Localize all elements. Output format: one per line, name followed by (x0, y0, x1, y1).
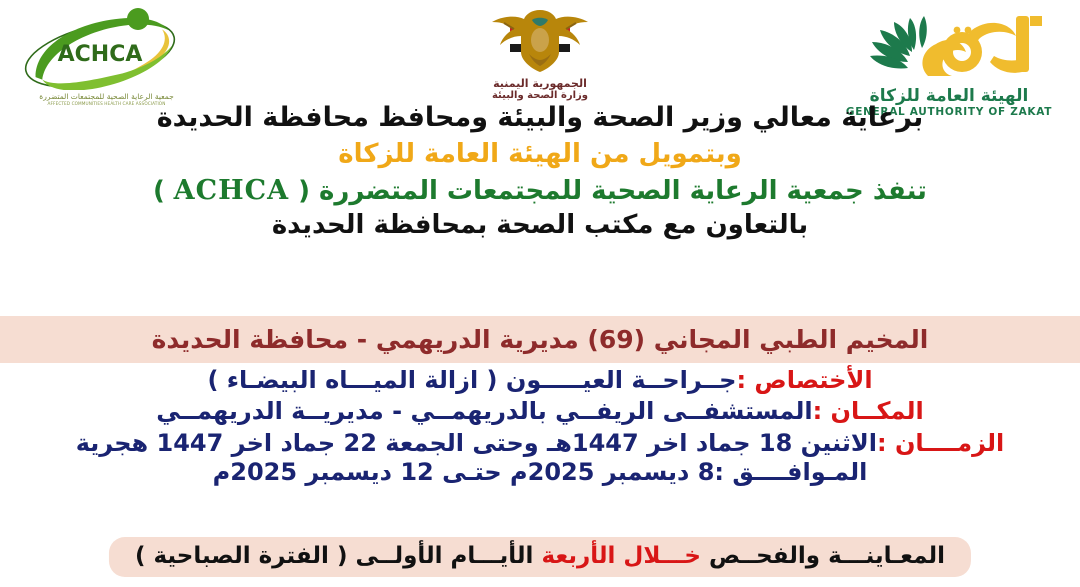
camp-title-text: المخيم الطبي المجاني (69) مديرية الدريهم… (152, 325, 929, 354)
ministry-name: وزارة الصحة والبيئة (455, 90, 625, 101)
ministry-emblem-block: الجمهورية اليمنية وزارة الصحة والبيئة (455, 2, 625, 118)
headline-partner: بالتعاون مع مكتب الصحة بمحافظة الحديدة (0, 212, 1080, 239)
gregorian-value: 8 ديسمبر 2025م حتـى 12 ديسمبر 2025م (213, 458, 715, 486)
time-value: الاثنين 18 جماد اخر 1447هـ وحتى الجمعة 2… (76, 429, 877, 457)
headline-block: برعاية معالي وزير الصحة والبيئة ومحافظ م… (0, 104, 1080, 239)
place-label: المكــان : (813, 397, 924, 425)
screening-note-box: المعـاينـــة والفحــص خـــلال الأربعة ال… (109, 537, 971, 577)
zakat-logo: الهيئة العامة للزكاة GENERAL AUTHORITY O… (844, 4, 1054, 118)
detail-row-place: المكــان :المستشفــى الريفــي بالدريهمــ… (0, 397, 1080, 425)
specialty-label: الأختصاص : (736, 366, 872, 394)
headline-implementer-acronym: ACHCA (174, 175, 289, 206)
poster-root: ACHCA جمعية الرعاية الصحية للمجتمعات الم… (0, 0, 1080, 587)
detail-row-gregorian: المـوافــــق :8 ديسمبر 2025م حتـى 12 ديس… (0, 458, 1080, 486)
header-logos: ACHCA جمعية الرعاية الصحية للمجتمعات الم… (0, 0, 1080, 118)
note-highlight: خـــلال الأربعة (541, 543, 701, 569)
svg-text:ACHCA: ACHCA (58, 42, 143, 67)
zakat-logo-mark (844, 4, 1054, 86)
gregorian-label: المـوافــــق : (714, 458, 867, 486)
details-block: الأختصاص :جــراحــة العيـــــون ( ازالة … (0, 366, 1080, 486)
place-value: المستشفــى الريفــي بالدريهمــي - مديريـ… (156, 397, 812, 425)
specialty-value: جــراحــة العيـــــون ( ازالة الميـــاه … (207, 366, 736, 394)
detail-row-specialty: الأختصاص :جــراحــة العيـــــون ( ازالة … (0, 366, 1080, 394)
headline-patronage: برعاية معالي وزير الصحة والبيئة ومحافظ م… (0, 104, 1080, 132)
palm-leaves-icon (870, 16, 927, 69)
ministry-country-name: الجمهورية اليمنية (455, 77, 625, 90)
camp-title-banner: المخيم الطبي المجاني (69) مديرية الدريهم… (0, 316, 1080, 363)
headline-funding: وبتمويل من الهيئة العامة للزكاة (0, 141, 1080, 168)
achca-swoosh-icon: ACHCA (14, 6, 199, 90)
note-part-one: المعـاينـــة والفحــص (701, 543, 945, 569)
detail-row-time: الزمــــان :الاثنين 18 جماد اخر 1447هـ و… (0, 429, 1080, 457)
headline-implementer: تنفذ جمعية الرعاية الصحية للمجتمعات المت… (0, 177, 1080, 205)
headline-implementer-suffix: ) (153, 176, 174, 206)
achca-logo-mark: ACHCA (14, 6, 199, 90)
achca-subtitle-arabic: جمعية الرعاية الصحية للمجتمعات المتضررة (14, 92, 199, 101)
time-label: الزمــــان : (877, 429, 1004, 457)
headline-implementer-prefix: تنفذ جمعية الرعاية الصحية للمجتمعات المت… (289, 176, 927, 206)
note-part-two: الأيـــام الأولــى ( الفترة الصباحية ) (135, 543, 542, 569)
zakat-wordmark-icon (844, 4, 1054, 86)
yemen-eagle-emblem-icon (480, 2, 600, 76)
